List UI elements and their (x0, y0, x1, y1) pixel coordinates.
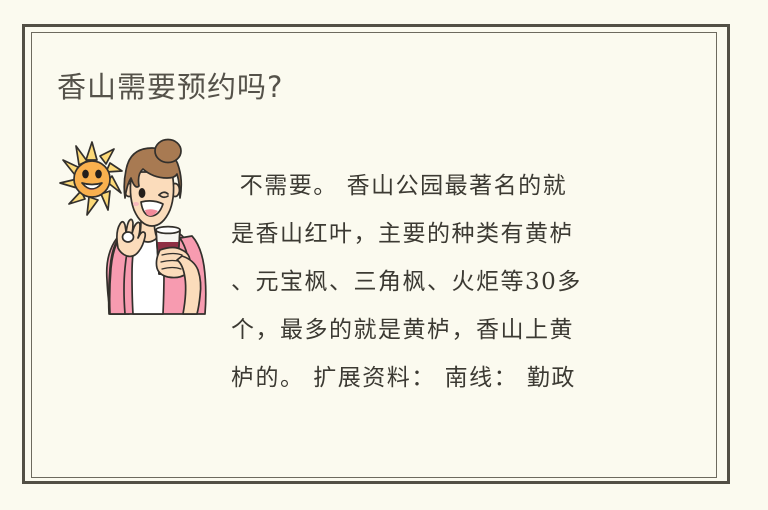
answer-card-page: 香山需要预约吗? (0, 0, 768, 510)
sun-icon (60, 142, 122, 215)
illustration-woman-drinking-juice-with-sun (56, 138, 218, 316)
answer-line: 、元宝枫、三角枫、火炬等30多 (231, 258, 651, 306)
page-title: 香山需要预约吗? (57, 69, 283, 105)
answer-line: 栌的。 扩展资料： 南线： 勤政 (231, 354, 651, 402)
answer-line: 个，最多的就是黄栌，香山上黄 (231, 306, 651, 354)
answer-line: 是香山红叶，主要的种类有黄栌 (231, 210, 651, 258)
answer-line: 不需要。 香山公园最著名的就 (231, 162, 651, 210)
answer-body-text: 不需要。 香山公园最著名的就 是香山红叶，主要的种类有黄栌 、元宝枫、三角枫、火… (231, 162, 651, 402)
woman-figure (107, 140, 206, 315)
